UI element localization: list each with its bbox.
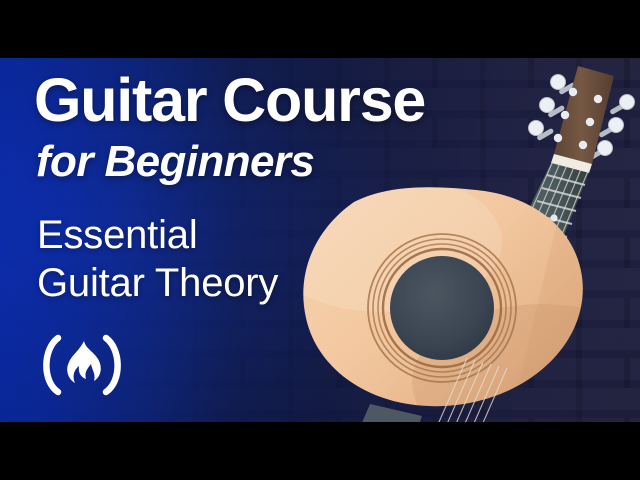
video-thumbnail: Guitar Course for Beginners Essential Gu… (0, 0, 640, 480)
topic-line-1: Essential (37, 211, 504, 259)
topic-line-2: Guitar Theory (37, 259, 504, 307)
page-subtitle: for Beginners (36, 139, 504, 185)
topic-block: Essential Guitar Theory (37, 211, 504, 307)
page-title: Guitar Course (34, 70, 504, 131)
guitar-bridge (358, 404, 422, 422)
guitar-headstock (529, 66, 635, 173)
logo-flame-icon (67, 341, 101, 383)
title-text-block: Guitar Course for Beginners Essential Gu… (34, 70, 504, 307)
thumbnail-stage: Guitar Course for Beginners Essential Gu… (0, 58, 640, 422)
letterbox-bar-bottom (0, 422, 640, 480)
freecodecamp-flame-logo (34, 334, 130, 396)
logo-right-paren (106, 338, 118, 392)
letterbox-bar-top (0, 0, 640, 58)
logo-left-paren (46, 338, 58, 392)
